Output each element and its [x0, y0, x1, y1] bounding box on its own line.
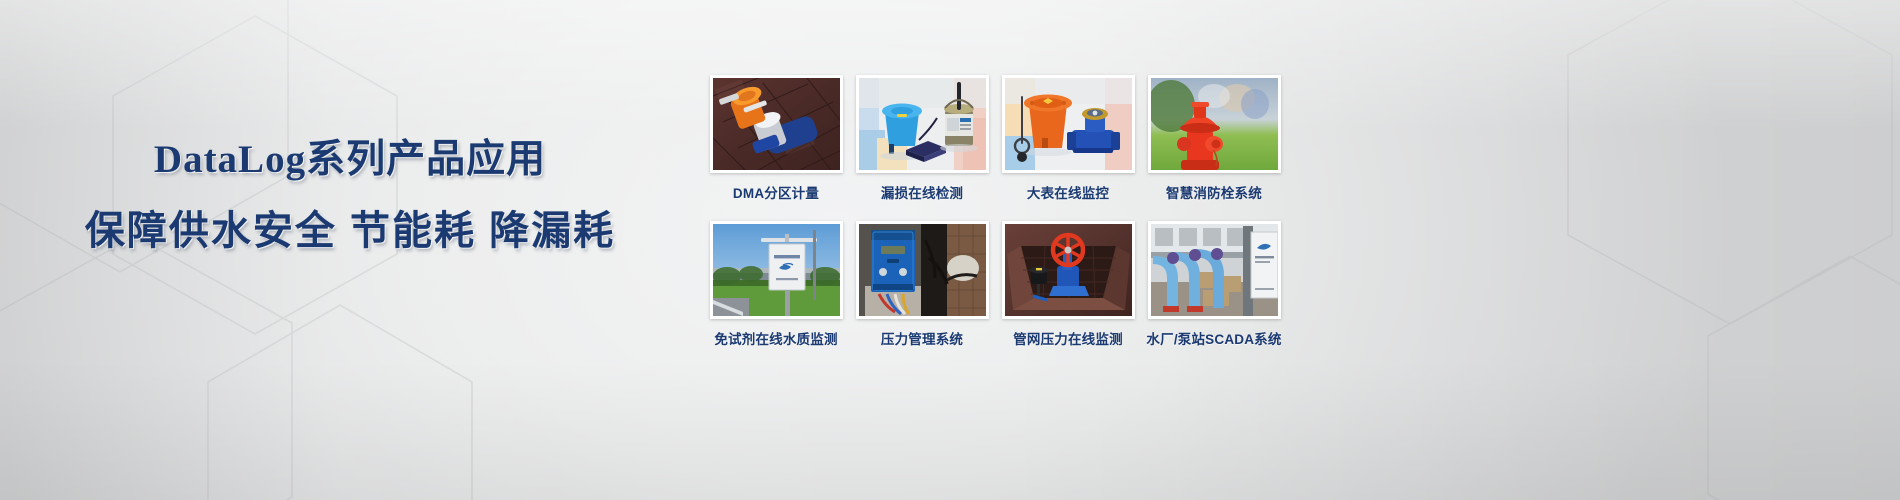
water-quality-station-photo	[713, 224, 840, 316]
hexagon-icon	[200, 300, 480, 500]
banner-headline: DataLog系列产品应用 保障供水安全 节能耗 降漏耗	[0, 140, 700, 252]
application-card-label: 水厂/泵站SCADA系统	[1146, 328, 1281, 348]
dma-metering-chamber-photo	[713, 78, 840, 170]
application-card-large-meter[interactable]: 大表在线监控	[998, 75, 1138, 202]
application-card-pressure-management[interactable]: 压力管理系统	[852, 221, 992, 348]
thumbnail-frame[interactable]	[856, 221, 989, 319]
application-card-label: 免试剂在线水质监测	[714, 328, 837, 348]
application-card-label: DMA分区计量	[733, 182, 819, 202]
thumbnail-frame[interactable]	[1002, 75, 1135, 173]
hexagon-icon	[1560, 0, 1900, 330]
application-card-label: 管网压力在线监测	[1013, 328, 1123, 348]
thumbnail-row: 免试剂在线水质监测	[706, 221, 1292, 348]
application-card-label: 漏损在线检测	[881, 182, 963, 202]
application-card-leak-detection[interactable]: 漏损在线检测	[852, 75, 992, 202]
thumbnail-frame[interactable]	[710, 75, 843, 173]
thumbnail-frame[interactable]	[1148, 75, 1281, 173]
thumbnail-frame[interactable]	[710, 221, 843, 319]
smart-hydrant-photo	[1151, 78, 1278, 170]
pressure-management-photo	[859, 224, 986, 316]
application-card-scada[interactable]: 水厂/泵站SCADA系统	[1144, 221, 1284, 348]
application-card-label: 大表在线监控	[1027, 182, 1109, 202]
thumbnail-row: DMA分区计量	[706, 75, 1292, 202]
thumbnail-frame[interactable]	[856, 75, 989, 173]
scada-pump-station-photo	[1151, 224, 1278, 316]
thumbnail-frame[interactable]	[1148, 221, 1281, 319]
application-card-label: 智慧消防栓系统	[1166, 182, 1262, 202]
application-card-pipeline-pressure[interactable]: 管网压力在线监测	[998, 221, 1138, 348]
hexagon-icon	[0, 230, 300, 500]
leak-detection-device-photo	[859, 78, 986, 170]
hexagon-icon	[1700, 250, 1900, 500]
headline-line-2: 保障供水安全 节能耗 降漏耗	[0, 210, 700, 252]
product-application-banner: DataLog系列产品应用 保障供水安全 节能耗 降漏耗	[0, 0, 1900, 500]
thumbnail-frame[interactable]	[1002, 221, 1135, 319]
application-card-dma-metering[interactable]: DMA分区计量	[706, 75, 846, 202]
application-card-label: 压力管理系统	[881, 328, 963, 348]
application-card-smart-hydrant[interactable]: 智慧消防栓系统	[1144, 75, 1284, 202]
large-meter-monitor-photo	[1005, 78, 1132, 170]
headline-line-1: DataLog系列产品应用	[0, 140, 700, 181]
application-thumbnail-grid: DMA分区计量	[706, 75, 1292, 348]
pipeline-pressure-photo	[1005, 224, 1132, 316]
application-card-water-quality[interactable]: 免试剂在线水质监测	[706, 221, 846, 348]
